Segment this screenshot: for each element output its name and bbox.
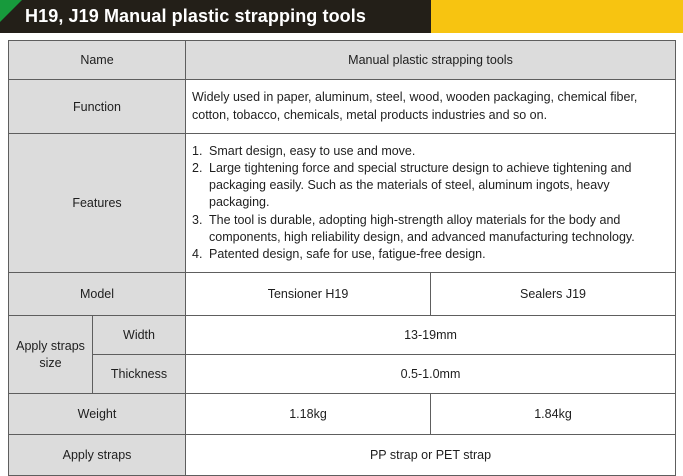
- row-label-apply-straps: Apply straps: [9, 435, 186, 476]
- feature-text: The tool is durable, adopting high-stren…: [209, 213, 635, 244]
- row-label-features: Features: [9, 134, 186, 273]
- row-value-width: 13-19mm: [186, 316, 676, 355]
- feature-number: 4.: [192, 246, 209, 263]
- row-value-name: Manual plastic strapping tools: [186, 41, 676, 80]
- list-item: 1.Smart design, easy to use and move.: [192, 143, 669, 160]
- features-list: 1.Smart design, easy to use and move. 2.…: [192, 143, 669, 264]
- table-row-weight: Weight 1.18kg 1.84kg: [9, 394, 676, 435]
- table-row-apply-straps: Apply straps PP strap or PET strap: [9, 435, 676, 476]
- feature-text: Smart design, easy to use and move.: [209, 144, 415, 158]
- row-value-model-sealers: Sealers J19: [431, 273, 676, 316]
- row-value-weight-h19: 1.18kg: [186, 394, 431, 435]
- table-row-apply-straps-size-width: Apply straps size Width 13-19mm: [9, 316, 676, 355]
- row-label-model: Model: [9, 273, 186, 316]
- specification-table: Name Manual plastic strapping tools Func…: [8, 40, 676, 476]
- row-value-model-tensioner: Tensioner H19: [186, 273, 431, 316]
- row-label-weight: Weight: [9, 394, 186, 435]
- spec-table-wrapper: Name Manual plastic strapping tools Func…: [0, 33, 683, 476]
- page-title: H19, J19 Manual plastic strapping tools: [25, 0, 366, 33]
- feature-text: Patented design, safe for use, fatigue-f…: [209, 247, 486, 261]
- row-label-width: Width: [93, 316, 186, 355]
- feature-number: 1.: [192, 143, 209, 160]
- row-label-name: Name: [9, 41, 186, 80]
- feature-number: 2.: [192, 160, 209, 177]
- row-label-thickness: Thickness: [93, 355, 186, 394]
- list-item: 3.The tool is durable, adopting high-str…: [192, 212, 669, 247]
- table-row-model: Model Tensioner H19 Sealers J19: [9, 273, 676, 316]
- page-header-banner: H19, J19 Manual plastic strapping tools: [0, 0, 683, 33]
- table-row-features: Features 1.Smart design, easy to use and…: [9, 134, 676, 273]
- list-item: 2.Large tightening force and special str…: [192, 160, 669, 212]
- row-value-weight-j19: 1.84kg: [431, 394, 676, 435]
- row-value-thickness: 0.5-1.0mm: [186, 355, 676, 394]
- list-item: 4.Patented design, safe for use, fatigue…: [192, 246, 669, 263]
- table-row-function: Function Widely used in paper, aluminum,…: [9, 80, 676, 134]
- table-row-apply-straps-size-thickness: Thickness 0.5-1.0mm: [9, 355, 676, 394]
- row-value-features: 1.Smart design, easy to use and move. 2.…: [186, 134, 676, 273]
- feature-number: 3.: [192, 212, 209, 229]
- feature-text: Large tightening force and special struc…: [209, 161, 632, 210]
- green-corner-triangle-icon: [0, 0, 22, 22]
- table-row-name: Name Manual plastic strapping tools: [9, 41, 676, 80]
- row-value-function: Widely used in paper, aluminum, steel, w…: [186, 80, 676, 134]
- row-label-apply-straps-size: Apply straps size: [9, 316, 93, 394]
- row-value-apply-straps: PP strap or PET strap: [186, 435, 676, 476]
- row-label-function: Function: [9, 80, 186, 134]
